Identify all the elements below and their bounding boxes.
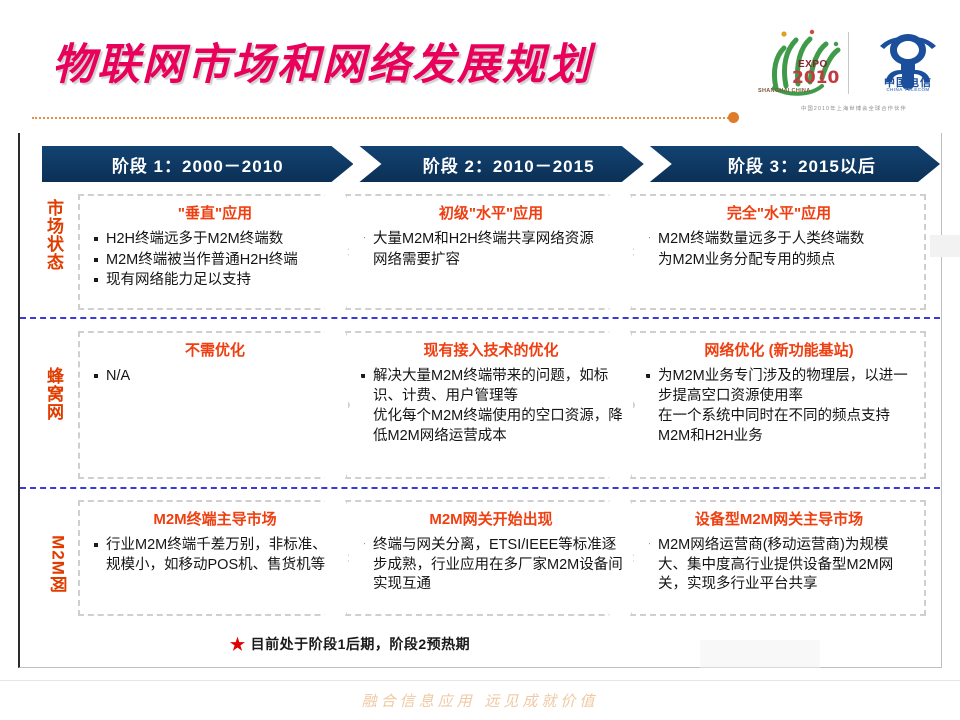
list-item: M2M终端被当作普通H2H终端 [92, 251, 338, 271]
cell-heading: M2M终端主导市场 [92, 508, 338, 529]
cell-bullets: 大量M2M和H2H终端共享网络资源 网络需要扩容 [359, 230, 623, 270]
row-label-cellular-network: 蜂窝网 [44, 368, 68, 422]
list-item: 为M2M业务分配专用的频点 [644, 251, 914, 271]
cell-bullets: M2M网络运营商(移动运营商)为规模大、集中度高行业提供设备型M2M网关，实现多… [644, 536, 914, 595]
watermark-block [930, 235, 960, 257]
header-divider-dot [728, 112, 739, 123]
list-item: 解决大量M2M终端带来的问题，如标识、计费、用户管理等 [359, 367, 623, 406]
slide: 物联网市场和网络发展规划 EXPO 2010 SHANGHAI CHINA [0, 0, 960, 720]
logo-caption: 中国2010年上海世博会全球合作伙伴 [756, 104, 952, 112]
footnote: ★目前处于阶段1后期，阶段2预热期 [0, 634, 700, 655]
telecom-name-en: CHINA TELECOM [868, 87, 948, 92]
list-item: 优化每个M2M终端使用的空口资源，降低M2M网络运营成本 [359, 407, 623, 446]
cell-bullets: 解决大量M2M终端带来的问题，如标识、计费、用户管理等 优化每个M2M终端使用的… [359, 367, 623, 446]
cell-heading: 完全"水平"应用 [644, 202, 914, 223]
cell-heading: 初级"水平"应用 [359, 202, 623, 223]
stage-banner: 阶段 1：2000－2010 阶段 2：2010－2015 阶段 3：2015以… [42, 146, 940, 182]
row-separator [20, 487, 940, 489]
cell-cellular-stage2: 现有接入技术的优化 解决大量M2M终端带来的问题，如标识、计费、用户管理等 优化… [345, 331, 635, 479]
list-item: 在一个系统中同时在不同的频点支持M2M和H2H业务 [644, 407, 914, 446]
header-divider [32, 117, 732, 119]
row-label-m2m-network: M2M网 [48, 529, 73, 601]
cell-m2m-stage1: M2M终端主导市场 行业M2M终端千差万别，非标准、规模小，如移动POS机、售货… [78, 500, 350, 616]
list-item: 大量M2M和H2H终端共享网络资源 [359, 230, 623, 250]
list-item: 网络需要扩容 [359, 251, 623, 271]
stage-2-header: 阶段 2：2010－2015 [359, 146, 643, 182]
list-item: M2M网络运营商(移动运营商)为规模大、集中度高行业提供设备型M2M网关，实现多… [644, 536, 914, 595]
cell-cellular-stage1: 不需优化 N/A [78, 331, 350, 479]
page-title: 物联网市场和网络发展规划 [52, 30, 592, 92]
cell-bullets: H2H终端远多于M2M终端数 M2M终端被当作普通H2H终端 现有网络能力足以支… [92, 230, 338, 291]
row-label-market-status: 市场状态 [44, 200, 68, 271]
cell-cellular-stage3: 网络优化 (新功能基站) 为M2M业务专门涉及的物理层，以进一步提高空口资源使用… [630, 331, 926, 479]
cell-bullets: M2M终端数量远多于人类终端数 为M2M业务分配专用的频点 [644, 230, 914, 270]
stage-1-header: 阶段 1：2000－2010 [42, 146, 353, 182]
watermark-block [700, 640, 820, 668]
cell-bullets: 为M2M业务专门涉及的物理层，以进一步提高空口资源使用率 在一个系统中同时在不同… [644, 367, 914, 446]
cell-heading: 设备型M2M网关主导市场 [644, 508, 914, 529]
cell-heading: 网络优化 (新功能基站) [644, 339, 914, 360]
cell-m2m-stage3: 设备型M2M网关主导市场 M2M网络运营商(移动运营商)为规模大、集中度高行业提… [630, 500, 926, 616]
cell-heading: 不需优化 [92, 339, 338, 360]
expo-subtitle: SHANGHAI CHINA [758, 88, 810, 94]
cell-bullets: N/A [92, 367, 338, 387]
row-separator [20, 317, 940, 319]
cell-market-stage3: 完全"水平"应用 M2M终端数量远多于人类终端数 为M2M业务分配专用的频点 [630, 194, 926, 310]
expo-year: 2010 [792, 70, 839, 87]
footnote-text: 目前处于阶段1后期，阶段2预热期 [251, 636, 471, 652]
cell-bullets: 终端与网关分离，ETSI/IEEE等标准逐步成熟，行业应用在多厂家M2M设备间实… [359, 536, 623, 595]
list-item: 为M2M业务专门涉及的物理层，以进一步提高空口资源使用率 [644, 367, 914, 406]
cell-market-stage1: "垂直"应用 H2H终端远多于M2M终端数 M2M终端被当作普通H2H终端 现有… [78, 194, 350, 310]
list-item: 行业M2M终端千差万别，非标准、规模小，如移动POS机、售货机等 [92, 536, 338, 575]
list-item: 终端与网关分离，ETSI/IEEE等标准逐步成熟，行业应用在多厂家M2M设备间实… [359, 536, 623, 595]
cell-m2m-stage2: M2M网关开始出现 终端与网关分离，ETSI/IEEE等标准逐步成熟，行业应用在… [345, 500, 635, 616]
list-item: M2M终端数量远多于人类终端数 [644, 230, 914, 250]
list-item: 现有网络能力足以支持 [92, 271, 338, 291]
cell-bullets: 行业M2M终端千差万别，非标准、规模小，如移动POS机、售货机等 [92, 536, 338, 575]
cell-heading: "垂直"应用 [92, 202, 338, 223]
bottom-bar: 融合信息应用 远见成就价值 [0, 680, 960, 720]
cell-heading: 现有接入技术的优化 [359, 339, 623, 360]
logo-area: EXPO 2010 SHANGHAI CHINA 中国电信 CHINA TELE… [756, 26, 952, 126]
star-icon: ★ [230, 635, 246, 654]
cell-market-stage2: 初级"水平"应用 大量M2M和H2H终端共享网络资源 网络需要扩容 [345, 194, 635, 310]
cell-heading: M2M网关开始出现 [359, 508, 623, 529]
logo-divider [848, 32, 849, 94]
list-item: H2H终端远多于M2M终端数 [92, 230, 338, 250]
stage-3-header: 阶段 3：2015以后 [650, 146, 940, 182]
company-slogan: 融合信息应用 远见成就价值 [362, 690, 599, 711]
list-item: N/A [92, 367, 338, 387]
